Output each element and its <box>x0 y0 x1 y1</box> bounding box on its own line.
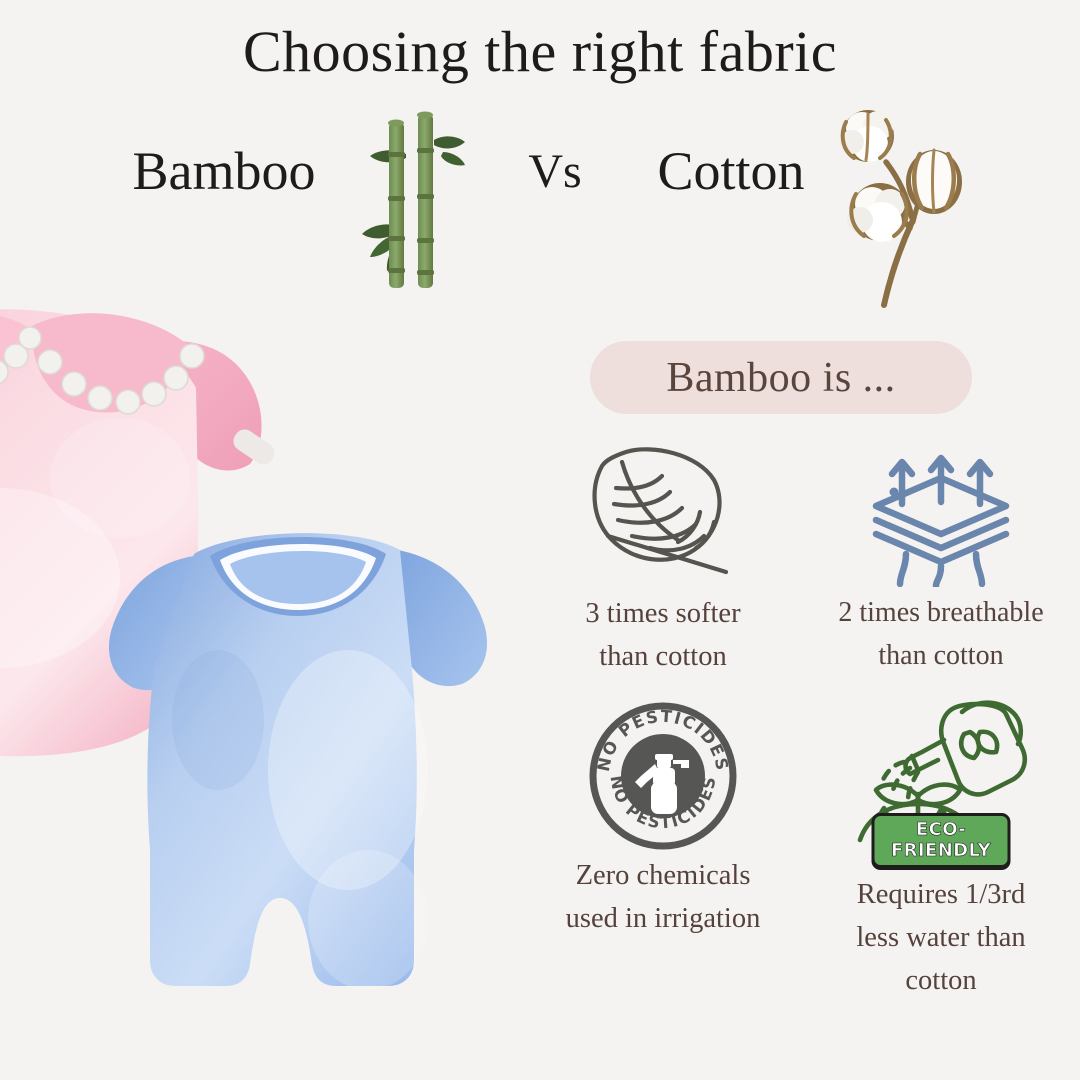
feature-water-usage: ECO-FRIENDLY Requires 1/3rd less water t… <box>802 692 1080 1002</box>
feature-breathability: 2 times breathable than cotton <box>802 440 1080 677</box>
label-bamboo: Bamboo <box>104 140 344 202</box>
eco-friendly-badge: ECO-FRIENDLY <box>872 813 1011 868</box>
feature-no-pesticides-caption: Zero chemicals used in irrigation <box>524 854 802 941</box>
infographic-canvas: Choosing the right fabric Bamboo Vs Cott… <box>0 0 1080 1080</box>
bamboo-is-badge: Bamboo is ... <box>590 341 972 414</box>
watering-can-sprout-icon: ECO-FRIENDLY <box>802 692 1080 870</box>
feature-softness-caption: 3 times softer than cotton <box>524 592 802 679</box>
no-pesticides-badge-icon: NO PESTICIDES NO PESTICIDES <box>524 702 802 850</box>
label-cotton: Cotton <box>626 140 836 202</box>
feature-softness: 3 times softer than cotton <box>524 440 802 679</box>
features-grid: 3 times softer than cotton <box>520 440 1080 1040</box>
bamboo-is-badge-label: Bamboo is ... <box>666 354 895 402</box>
feature-no-pesticides: NO PESTICIDES NO PESTICIDES <box>524 702 802 941</box>
bamboo-stalks-illustration <box>348 108 470 293</box>
blue-baby-romper-illustration <box>98 520 498 1040</box>
label-vs: Vs <box>500 144 610 199</box>
cotton-branch-illustration <box>824 100 1004 315</box>
feather-icon <box>524 440 802 588</box>
feature-breathability-caption: 2 times breathable than cotton <box>796 592 1080 677</box>
breathable-layers-icon <box>802 440 1080 588</box>
page-title: Choosing the right fabric <box>0 18 1080 85</box>
feature-water-usage-caption: Requires 1/3rd less water than cotton <box>802 874 1080 1002</box>
eco-friendly-badge-label: ECO-FRIENDLY <box>891 819 991 861</box>
